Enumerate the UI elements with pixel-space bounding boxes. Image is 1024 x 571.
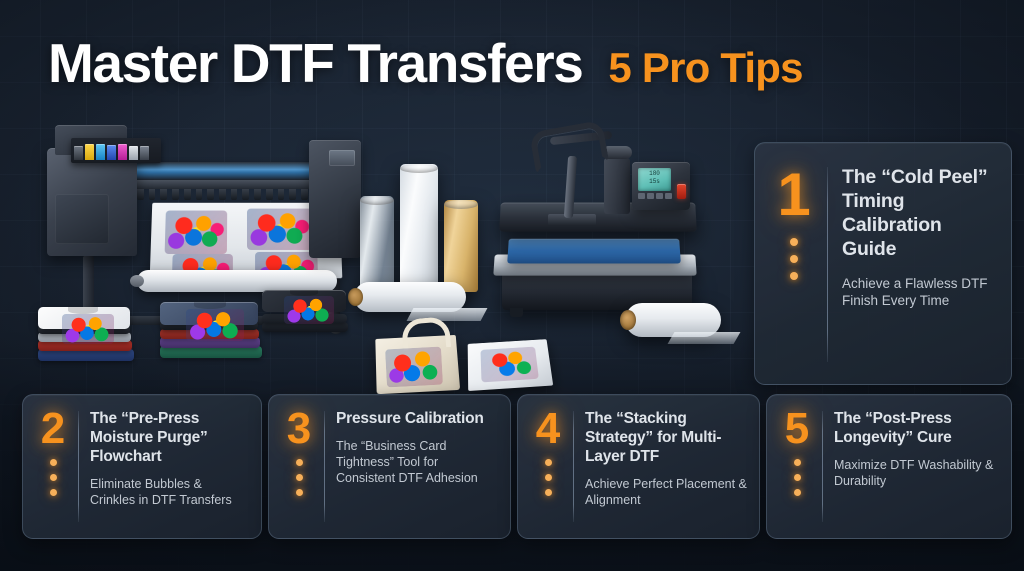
tip-title: Pressure Calibration (336, 409, 498, 428)
page-title: Master DTF Transfers (48, 36, 582, 91)
tip-card-2[interactable]: 2 The “Pre-Press Moisture Purge” Flowcha… (22, 394, 262, 539)
garment-print-artwork (186, 309, 244, 341)
tip-dots-indicator (50, 459, 57, 496)
canvas-tote-bag (376, 318, 458, 390)
heat-press-silicone-pad (507, 239, 681, 264)
ink-cartridge-cyan (96, 144, 105, 160)
transfer-sheet-artwork (480, 347, 538, 383)
white-dtf-film-roll (400, 164, 438, 292)
tip-number: 3 (287, 409, 311, 449)
heat-press-handle (529, 120, 609, 174)
printer-ink-cartridge-bay (71, 138, 161, 163)
power-switch-icon[interactable] (677, 184, 686, 199)
printed-artwork (247, 209, 313, 250)
tip-dots-indicator (790, 238, 798, 280)
tip-number-column: 5 (779, 409, 815, 526)
lcd-timer-value: 15s (638, 178, 671, 186)
tip-text-column: The “Post-Press Longevity” Cure Maximize… (834, 409, 999, 526)
tip-subtitle: Maximize DTF Washability & Durability (834, 457, 999, 489)
ink-cartridge-blue (107, 145, 116, 160)
tote-print-artwork (385, 347, 443, 388)
ink-cartridge-grey (140, 146, 149, 160)
tip-number: 5 (785, 409, 809, 449)
gold-dtf-film-roll (444, 200, 478, 292)
ink-cartridge-black (74, 146, 83, 160)
tip-subtitle: Achieve Perfect Placement & Alignment (585, 476, 747, 508)
ink-cartridge-magenta (118, 144, 127, 160)
heat-press-foot (510, 308, 523, 317)
tip-number-column: 1 (771, 165, 817, 366)
tip-card-4[interactable]: 4 The “Stacking Strategy” for Multi-Laye… (517, 394, 760, 539)
tip-number: 2 (41, 409, 65, 449)
floor-dtf-film-roll (625, 303, 721, 337)
tip-divider (822, 411, 823, 522)
tip-title: The “Pre-Press Moisture Purge” Flowchart (90, 409, 249, 466)
dtf-film-roll-group (352, 158, 502, 318)
tip-dots-indicator (296, 459, 303, 496)
heat-press-button-row[interactable] (638, 193, 672, 199)
tip-text-column: Pressure Calibration The “Business Card … (336, 409, 498, 526)
tip-divider (324, 411, 325, 522)
tip-card-1[interactable]: 1 The “Cold Peel” Timing Calibration Gui… (754, 142, 1012, 385)
tip-card-5[interactable]: 5 The “Post-Press Longevity” Cure Maximi… (766, 394, 1012, 539)
heat-press-controller: 180 15s (632, 162, 690, 210)
horizontal-dtf-film-roll (354, 282, 466, 312)
tip-title: The “Stacking Strategy” for Multi-Layer … (585, 409, 747, 466)
tip-number-column: 2 (35, 409, 71, 526)
heat-press-lcd-display: 180 15s (638, 168, 671, 191)
tip-number: 1 (777, 167, 810, 222)
tip-subtitle: Eliminate Bubbles & Crinkles in DTF Tran… (90, 476, 249, 508)
tip-divider (827, 167, 828, 362)
tip-subtitle: Achieve a Flawless DTF Finish Every Time (842, 275, 993, 309)
tip-divider (78, 411, 79, 522)
printed-artwork (165, 211, 228, 254)
tip-title: The “Cold Peel” Timing Calibration Guide (842, 165, 993, 261)
tip-dots-indicator (794, 459, 801, 496)
poster-header: Master DTF Transfers 5 Pro Tips (48, 36, 803, 91)
product-scene: 180 15s (0, 110, 760, 395)
lcd-temperature-value: 180 (638, 170, 671, 178)
garment-print-artwork (284, 296, 334, 324)
ink-cartridge-white (129, 146, 138, 160)
tip-text-column: The “Cold Peel” Timing Calibration Guide… (842, 165, 993, 366)
clear-dtf-film-roll (360, 196, 394, 292)
black-tshirt-stack (262, 288, 348, 336)
printer-left-housing (47, 148, 137, 256)
tip-number-column: 3 (281, 409, 317, 526)
tip-number: 4 (536, 409, 560, 449)
tip-subtitle: The “Business Card Tightness” Tool for C… (336, 438, 498, 486)
tip-card-3[interactable]: 3 Pressure Calibration The “Business Car… (268, 394, 511, 539)
garment-print-artwork (62, 314, 114, 344)
tip-text-column: The “Stacking Strategy” for Multi-Layer … (585, 409, 747, 526)
ink-cartridge-yellow (85, 144, 94, 160)
infographic-poster: Master DTF Transfers 5 Pro Tips (0, 0, 1024, 571)
tip-text-column: The “Pre-Press Moisture Purge” Flowchart… (90, 409, 249, 526)
white-tshirt-stack (38, 305, 134, 361)
navy-tshirt-stack (160, 300, 262, 358)
dtf-transfer-sheet (468, 339, 554, 391)
heat-press-column (604, 158, 630, 214)
page-title-accent: 5 Pro Tips (608, 47, 802, 89)
tip-number-column: 4 (530, 409, 566, 526)
tip-title: The “Post-Press Longevity” Cure (834, 409, 999, 447)
tote-bag-handle (401, 316, 452, 351)
tip-dots-indicator (545, 459, 552, 496)
tip-divider (573, 411, 574, 522)
